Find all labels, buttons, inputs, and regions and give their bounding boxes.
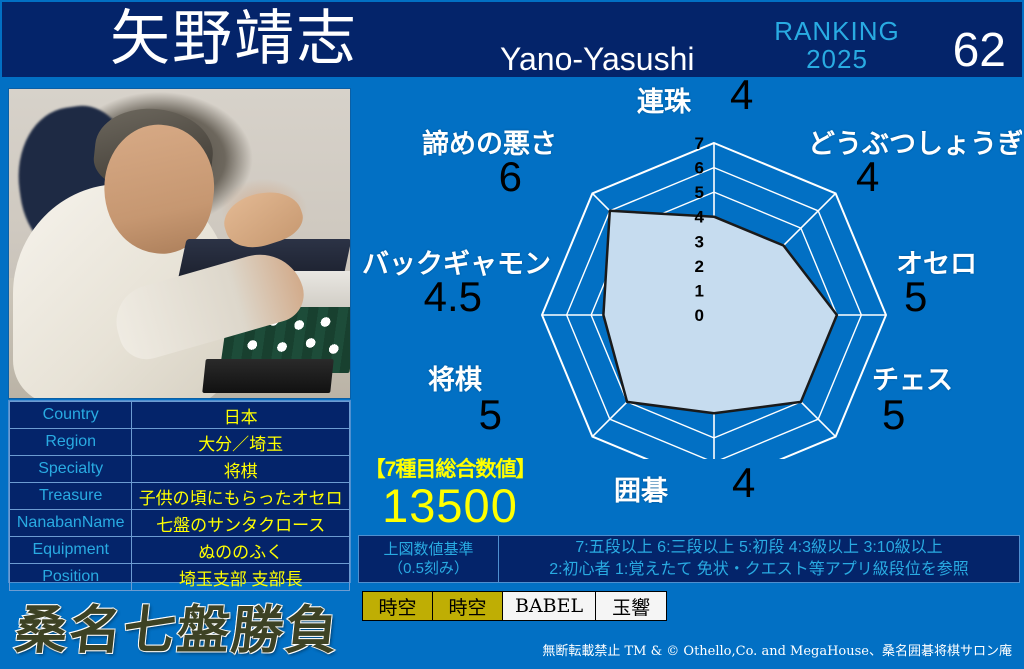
radar-axis-label-1: どうぶつしょうぎ [808, 122, 1024, 161]
player-name-romaji: Yano-Yasushi [500, 42, 694, 76]
info-key: Specialty [10, 456, 132, 483]
table-row: Equipmentぬののふく [10, 537, 350, 564]
brand-logo: 桑名七盤勝負 [6, 588, 351, 662]
radar-axis-value-2: 5 [904, 276, 927, 318]
ranking-number: 62 [953, 26, 1006, 76]
table-row: Treasure子供の頃にもらったオセロ [10, 483, 350, 510]
info-value: 七盤のサンタクロース [132, 510, 350, 537]
criteria-title-line1: 上図数値基準 [383, 540, 473, 559]
tag-button[interactable]: 時空 [433, 592, 503, 620]
ranking-year: 2025 [762, 45, 912, 73]
table-row: Region大分／埼玉 [10, 429, 350, 456]
card-header: 矢野靖志 Yano-Yasushi RANKING 2025 62 [0, 0, 1024, 80]
radar-axis-value-4: 4 [732, 462, 755, 504]
radar-tick-label: 3 [695, 232, 704, 251]
criteria-title: 上図数値基準 （0.5刻み） [359, 536, 499, 582]
radar-tick-label: 5 [695, 183, 704, 202]
radar-axis-label-4: 囲碁 [614, 469, 668, 508]
info-key: NanabanName [10, 510, 132, 537]
info-key: Region [10, 429, 132, 456]
info-key: Position [10, 564, 132, 591]
table-row: NanabanName七盤のサンタクロース [10, 510, 350, 537]
info-value: 将棋 [132, 456, 350, 483]
radar-axis-value-7: 6 [499, 156, 522, 198]
info-value: ぬののふく [132, 537, 350, 564]
table-row: Specialty将棋 [10, 456, 350, 483]
table-row: Position埼玉支部 支部長 [10, 564, 350, 591]
radar-axis-label-5: 将棋 [428, 358, 482, 397]
radar-axis-value-5: 5 [479, 394, 502, 436]
info-key: Country [10, 402, 132, 429]
player-photo-image [9, 89, 350, 398]
info-value: 埼玉支部 支部長 [132, 564, 350, 591]
radar-data-polygon [603, 211, 837, 413]
total-score-label: 【7種目総合数値】 [362, 458, 538, 481]
radar-tick-label: 1 [695, 281, 704, 300]
ranking-block: RANKING 2025 [762, 18, 912, 73]
info-key: Treasure [10, 483, 132, 510]
total-score-block: 【7種目総合数値】 13500 [362, 458, 538, 531]
skills-radar-chart: 01234567 連珠4どうぶつしょうぎ4オセロ5チェス5囲碁4将棋5バックギャ… [356, 84, 1024, 459]
criteria-line-1: 7:五段以上 6:三段以上 5:初段 4:3級以上 3:10級以上 [575, 537, 942, 559]
player-info-table: Country日本Region大分／埼玉Specialty将棋Treasure子… [8, 400, 351, 583]
radar-axis-value-0: 4 [730, 74, 753, 116]
info-value: 大分／埼玉 [132, 429, 350, 456]
info-value: 日本 [132, 402, 350, 429]
radar-axis-value-6: 4.5 [424, 276, 482, 318]
radar-tick-label: 4 [695, 208, 705, 227]
radar-axis-label-0: 連珠 [637, 80, 691, 119]
photo-black-box [202, 359, 334, 393]
criteria-title-line2: （0.5刻み） [388, 559, 469, 578]
player-photo [8, 88, 351, 399]
criteria-legend: 7:五段以上 6:三段以上 5:初段 4:3級以上 3:10級以上 2:初心者 … [499, 536, 1019, 582]
tag-button-bar[interactable]: 時空時空BABEL玉響 [362, 591, 667, 621]
ranking-label: RANKING [762, 18, 912, 45]
tag-button[interactable]: 時空 [363, 592, 433, 620]
radar-axis-value-1: 4 [856, 156, 879, 198]
radar-tick-label: 7 [695, 134, 704, 153]
player-profile-card: 矢野靖志 Yano-Yasushi RANKING 2025 62 Countr… [0, 0, 1024, 669]
tag-button[interactable]: BABEL [503, 592, 596, 620]
info-key: Equipment [10, 537, 132, 564]
player-name-jp: 矢野靖志 [110, 5, 358, 73]
radar-tick-label: 6 [695, 159, 704, 178]
radar-tick-label: 2 [695, 257, 704, 276]
criteria-bar: 上図数値基準 （0.5刻み） 7:五段以上 6:三段以上 5:初段 4:3級以上… [358, 535, 1020, 583]
tag-button[interactable]: 玉響 [596, 592, 666, 620]
radar-axis-label-7: 諦めの悪さ [422, 122, 557, 161]
info-value: 子供の頃にもらったオセロ [132, 483, 350, 510]
table-row: Country日本 [10, 402, 350, 429]
brand-logo-text: 桑名七盤勝負 [13, 588, 345, 663]
total-score-value: 13500 [362, 481, 538, 531]
radar-tick-label: 0 [695, 306, 704, 325]
criteria-line-2: 2:初心者 1:覚えたて 免状・クエスト等アプリ級段位を参照 [549, 559, 969, 581]
radar-axis-value-3: 5 [882, 394, 905, 436]
copyright-notice: 無断転載禁止 TM & © Othello,Co. and MegaHouse、… [542, 640, 1012, 659]
